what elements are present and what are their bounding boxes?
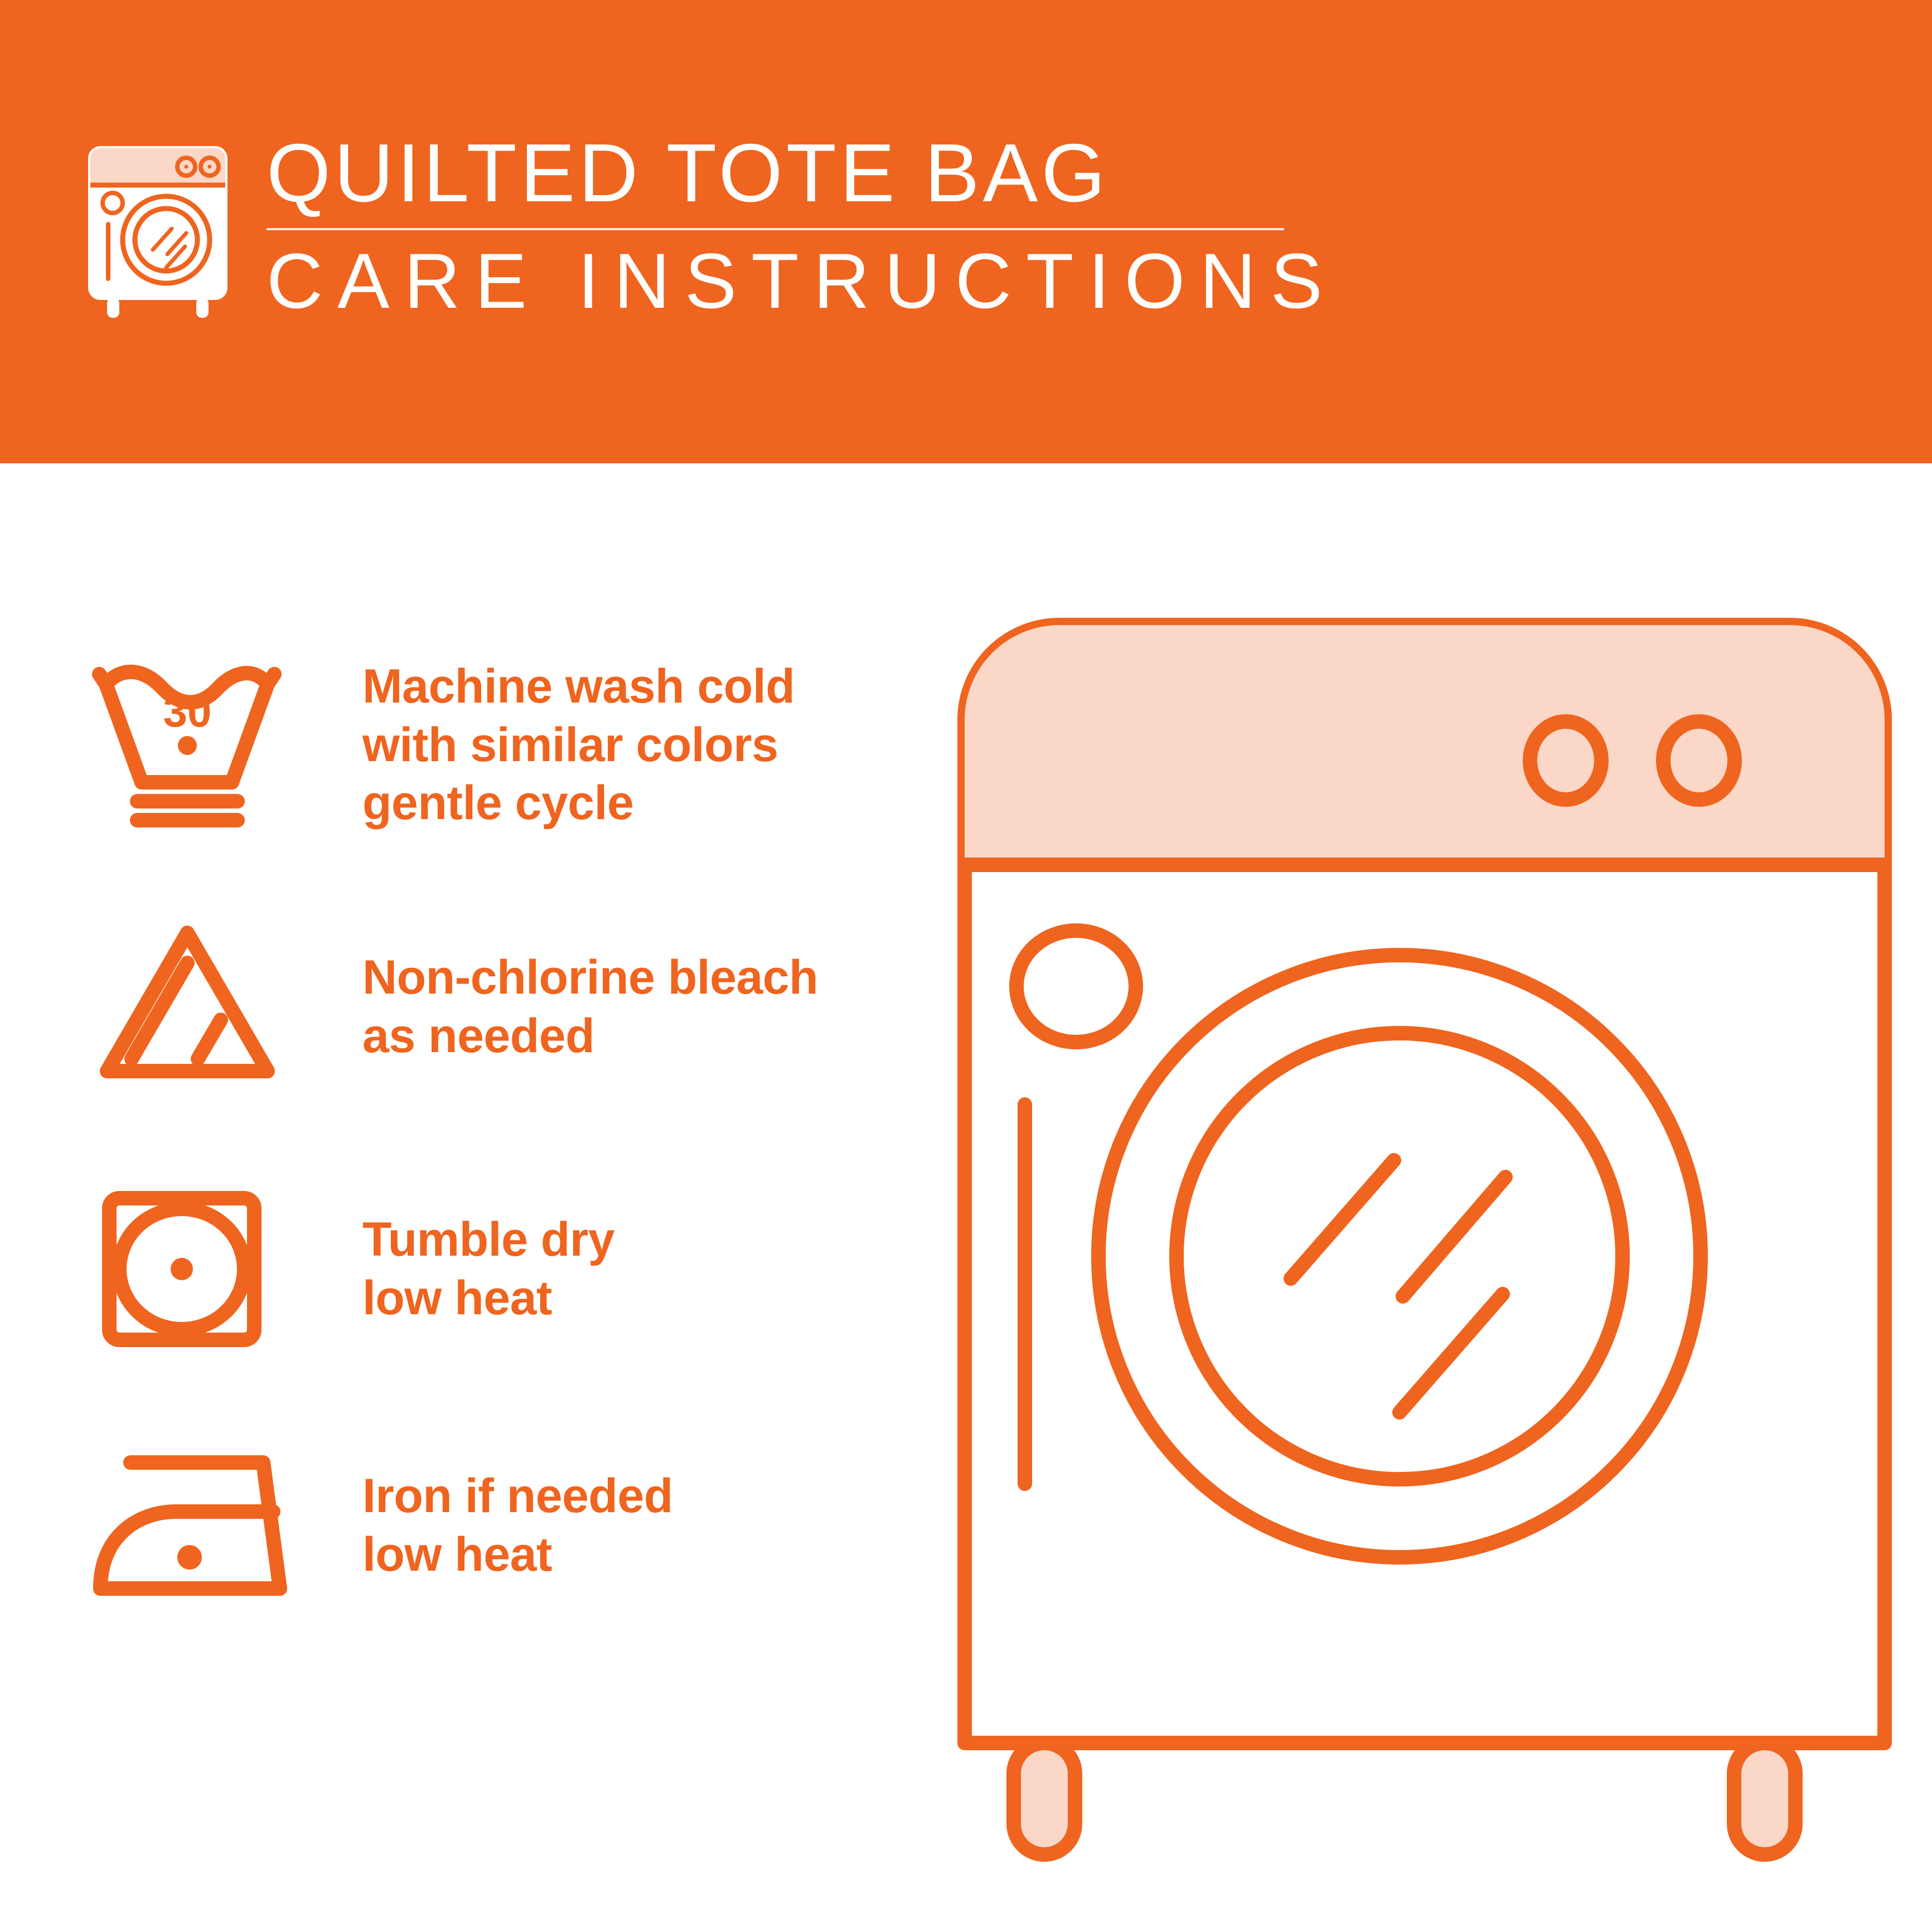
header-banner: QUILTED TOTE BAG CARE INSTRUCTIONS xyxy=(0,0,1932,463)
wash-tub-icon: 30 xyxy=(84,653,307,837)
bleach-triangle-icon xyxy=(84,915,307,1099)
care-line: low heat xyxy=(362,1526,673,1584)
main-content: 30 Machine wash cold with similar colors… xyxy=(0,463,1932,1932)
washing-machine-logo-icon xyxy=(83,141,233,325)
care-text-iron: Iron if needed low heat xyxy=(362,1467,673,1584)
page-title: QUILTED TOTE BAG xyxy=(267,132,1337,216)
care-line: Non-chlorine bleach xyxy=(362,948,818,1007)
care-line: Tumble dry xyxy=(362,1210,614,1269)
leg-left xyxy=(1014,1743,1075,1854)
iron-icon xyxy=(84,1434,307,1618)
care-line: as needed xyxy=(362,1007,818,1066)
title-divider xyxy=(267,228,1284,230)
care-text-machine-wash: Machine wash cold with similar colors ge… xyxy=(362,657,795,833)
washing-machine-illustration xyxy=(942,603,1907,1885)
care-line: with similar colors xyxy=(362,716,795,774)
care-line: low heat xyxy=(362,1269,614,1328)
control-panel xyxy=(965,625,1885,865)
leg-right xyxy=(1734,1743,1795,1854)
wash-temperature-label: 30 xyxy=(163,687,212,736)
care-text-bleach: Non-chlorine bleach as needed xyxy=(362,948,818,1066)
care-row-machine-wash: 30 Machine wash cold with similar colors… xyxy=(84,653,920,837)
header-title-group: QUILTED TOTE BAG CARE INSTRUCTIONS xyxy=(267,129,1337,321)
page-subtitle: CARE INSTRUCTIONS xyxy=(267,241,1337,321)
care-row-tumble-dry: Tumble dry low heat xyxy=(84,1177,920,1361)
header-content: QUILTED TOTE BAG CARE INSTRUCTIONS xyxy=(83,129,1337,338)
care-row-bleach: Non-chlorine bleach as needed xyxy=(84,915,920,1099)
care-line: Iron if needed xyxy=(362,1467,673,1526)
care-line: gentle cycle xyxy=(362,774,795,832)
tumble-dry-icon xyxy=(84,1177,307,1361)
care-line: Machine wash cold xyxy=(362,657,795,716)
care-row-iron: Iron if needed low heat xyxy=(84,1434,920,1618)
care-text-tumble-dry: Tumble dry low heat xyxy=(362,1210,614,1328)
